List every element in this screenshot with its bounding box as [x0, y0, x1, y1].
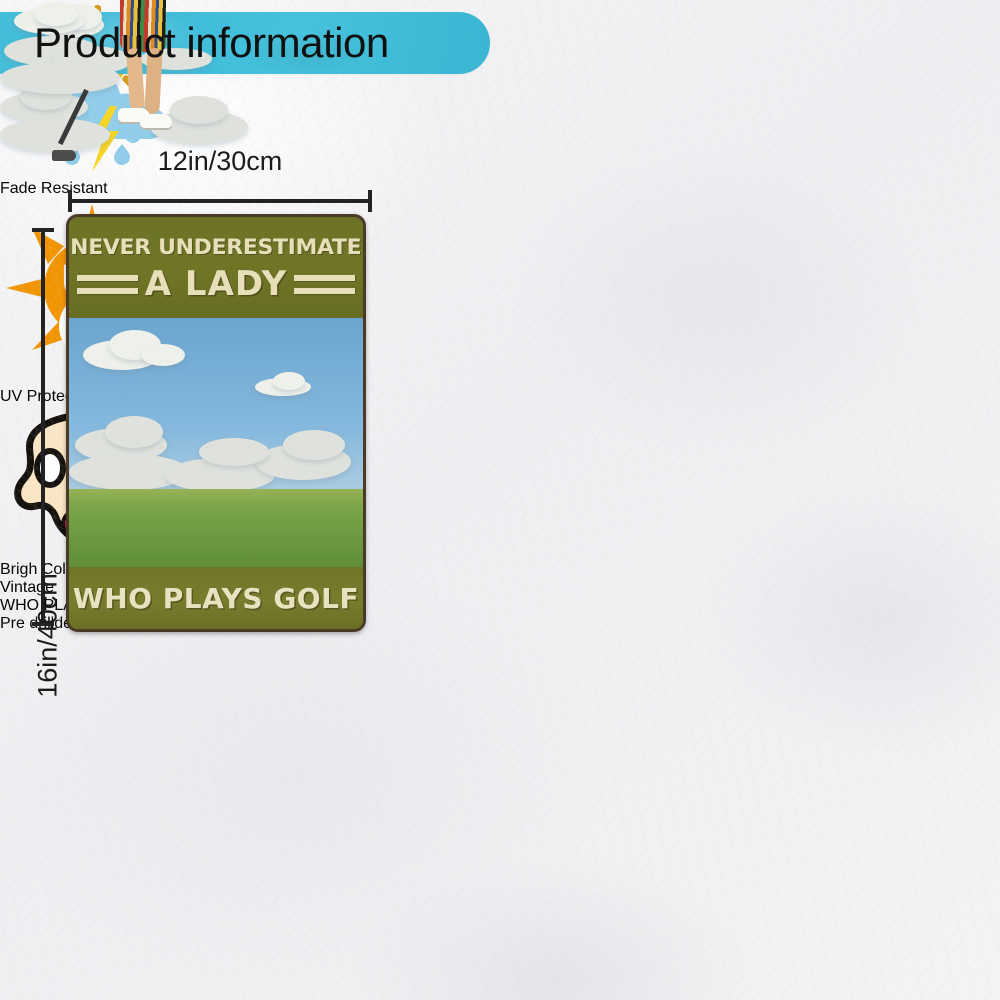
club-head — [52, 150, 76, 161]
sign-artwork-golf-scene — [69, 318, 363, 567]
golfer-shoe — [140, 114, 172, 128]
golf-ball-icon — [78, 158, 89, 169]
cloud-icon — [273, 372, 305, 390]
cloud-icon — [105, 416, 163, 448]
cloud-icon — [170, 96, 228, 124]
sign-top-band: NEVER UNDERESTIMATE A LADY — [69, 217, 363, 318]
sign-bottom-band: WHO PLAYS GOLF — [69, 567, 363, 629]
height-dimension-label: 16in/40cm — [33, 456, 64, 816]
dimension-cap-left — [68, 190, 72, 212]
fairway-ground — [69, 489, 363, 567]
sign-dashes-right — [294, 275, 355, 294]
cloud-icon — [0, 118, 110, 152]
sign-subhead: A LADY — [145, 264, 288, 304]
cloud-icon — [141, 344, 185, 366]
cloud-icon — [283, 430, 345, 460]
sign-headline: NEVER UNDERESTIMATE — [70, 235, 361, 260]
sign-dashes-left — [77, 275, 138, 294]
width-dimension-line — [68, 190, 372, 212]
dimension-cap-top — [32, 228, 54, 232]
header-banner: Product information — [0, 12, 490, 74]
cloud-icon — [0, 62, 120, 94]
sign-footline: WHO PLAYS GOLF — [73, 582, 359, 615]
tin-sign-front: NEVER UNDERESTIMATE A LADY — [66, 214, 366, 632]
width-dimension-label: 12in/30cm — [68, 146, 372, 177]
dimension-bar — [68, 199, 372, 203]
height-dimension-line: 16in/40cm — [32, 228, 54, 626]
cloud-icon — [199, 438, 269, 466]
page-title: Product information — [34, 22, 389, 64]
product-information-infographic: Product information 12in/30cm 16in/40cm … — [0, 0, 1000, 1000]
dimension-cap-right — [368, 190, 372, 212]
